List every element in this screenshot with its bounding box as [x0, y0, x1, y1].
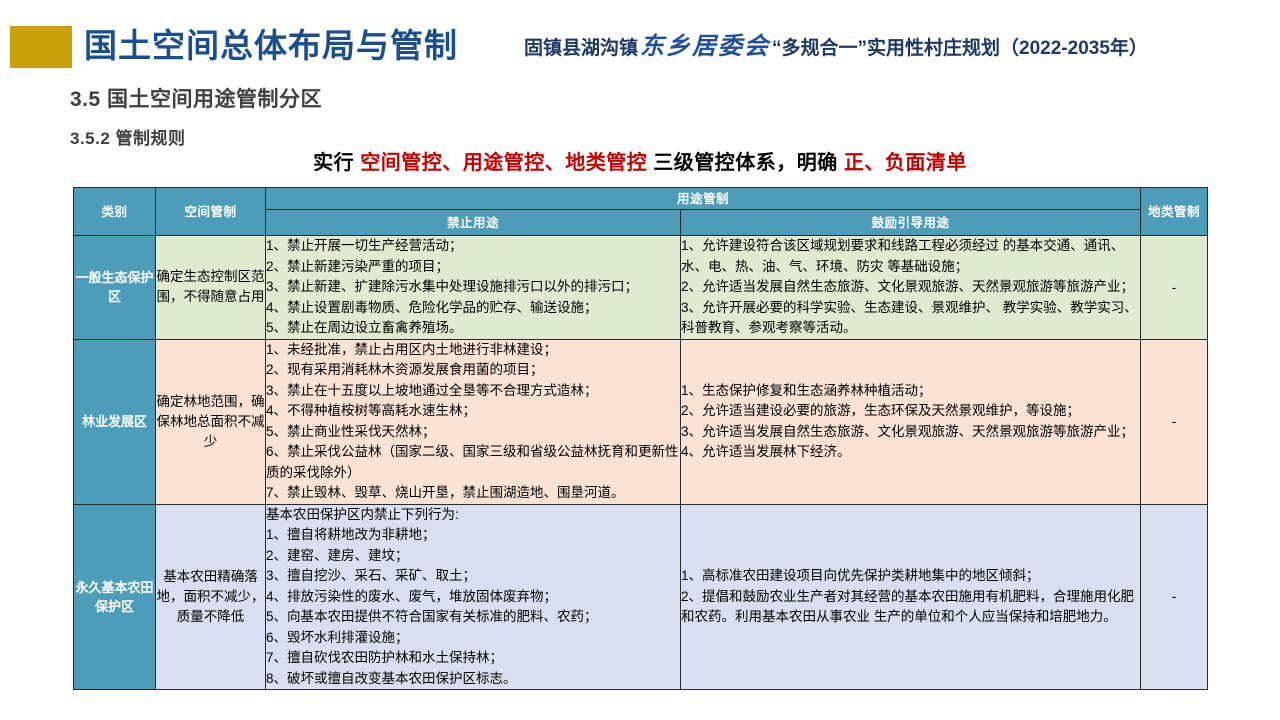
cell-encouraged-use: 1、生态保护修复和生态涵养林种植活动；2、允许适当建设必要的旅游，生态环保及天然…: [681, 339, 1141, 504]
slide-header: 国土空间总体布局与管制 固镇县湖沟镇东乡居委会“多规合一”实用性村庄规划（202…: [0, 0, 1280, 78]
section-heading-3-5: 3.5 国土空间用途管制分区: [70, 83, 322, 113]
rule-item: 6、禁止采伐公益林（国家二级、国家三级和省级公益林抚育和更新性质的采伐除外）: [266, 442, 680, 483]
cell-forbidden-use: 1、禁止开展一切生产经营活动；2、禁止新建污染严重的项目；3、禁止新建、扩建除污…: [266, 236, 681, 340]
slide: 国土空间总体布局与管制 固镇县湖沟镇东乡居委会“多规合一”实用性村庄规划（202…: [0, 0, 1280, 720]
th-space-control: 空间管制: [156, 188, 266, 236]
rule-item: 2、提倡和鼓励农业生产者对其经营的基本农田施用有机肥料，合理施用化肥和农药。利用…: [681, 587, 1140, 628]
rule-item: 8、破坏或擅自改变基本农田保护区标志。: [266, 669, 680, 690]
cell-category: 永久基本农田保护区: [74, 504, 156, 690]
table-row: 林业发展区确定林地范围，确保林地总面积不减少1、未经批准，禁止占用区内土地进行非…: [74, 339, 1208, 504]
rule-item: 4、排放污染性的废水、废气，堆放固体废弃物；: [266, 587, 680, 608]
rule-item: 5、禁止商业性采伐天然林；: [266, 422, 680, 443]
cell-space-control: 确定生态控制区范围，不得随意占用: [156, 236, 266, 340]
project-subtitle: 固镇县湖沟镇东乡居委会“多规合一”实用性村庄规划（2022-2035年）: [524, 33, 1148, 63]
rule-item: 5、向基本农田提供不符合国家有关标准的肥料、农药；: [266, 607, 680, 628]
rule-item: 4、不得种植桉树等高耗水速生林；: [266, 401, 680, 422]
banner-highlight-1: 空间管控、用途管控、地类管控: [360, 152, 647, 174]
cell-category: 一般生态保护区: [74, 236, 156, 340]
cell-land-type-control: -: [1141, 236, 1208, 340]
rule-item: 5、禁止在周边设立畜禽养殖场。: [266, 318, 680, 339]
th-land-type-control: 地类管制: [1141, 188, 1208, 236]
th-category: 类别: [74, 188, 156, 236]
page-title: 国土空间总体布局与管制: [84, 24, 458, 68]
subtitle-suffix: 实用性村庄规划（2022-2035年）: [867, 38, 1148, 59]
rule-item: 1、禁止开展一切生产经营活动；: [266, 236, 680, 257]
cell-forbidden-use: 基本农田保护区内禁止下列行为:1、擅自将耕地改为非耕地；2、建窑、建房、建坟；3…: [266, 504, 681, 690]
cell-category: 林业发展区: [74, 339, 156, 504]
rule-item: 2、现有采用消耗林木资源发展食用菌的项目；: [266, 360, 680, 381]
rule-item: 1、擅自将耕地改为非耕地；: [266, 525, 680, 546]
gold-accent-bar: [10, 26, 72, 68]
table-header-row-1: 类别 空间管制 用途管制 地类管制: [74, 188, 1208, 210]
cell-space-control: 基本农田精确落地，面积不减少，质量不降低: [156, 504, 266, 690]
subtitle-prefix: 固镇县湖沟镇: [524, 38, 638, 59]
rule-item: 1、允许建设符合该区域规划要求和线路工程必须经过 的基本交通、通讯、水、电、热、…: [681, 236, 1140, 277]
banner-highlight-2: 正、负面清单: [844, 152, 967, 174]
rule-item: 2、禁止新建污染严重的项目；: [266, 257, 680, 278]
rule-item: 3、擅自挖沙、采石、采矿、取土；: [266, 566, 680, 587]
th-use-control: 用途管制: [266, 188, 1141, 210]
cell-encouraged-use: 1、允许建设符合该区域规划要求和线路工程必须经过 的基本交通、通讯、水、电、热、…: [681, 236, 1141, 340]
rule-item: 3、允许适当发展自然生态旅游、文化景观旅游、天然景观旅游等旅游产业；: [681, 422, 1140, 443]
rule-item: 1、未经批准，禁止占用区内土地进行非林建设；: [266, 340, 680, 361]
subtitle-quoted: “多规合一”: [772, 38, 867, 59]
table-head: 类别 空间管制 用途管制 地类管制 禁止用途 鼓励引导用途: [74, 188, 1208, 236]
table-body: 一般生态保护区确定生态控制区范围，不得随意占用1、禁止开展一切生产经营活动；2、…: [74, 236, 1208, 690]
control-rules-table-wrapper: 类别 空间管制 用途管制 地类管制 禁止用途 鼓励引导用途 一般生态保护区确定生…: [73, 187, 1207, 680]
rule-item: 2、允许适当建设必要的旅游，生态环保及天然景观维护，等设施；: [681, 401, 1140, 422]
rule-item: 2、允许适当发展自然生态旅游、文化景观旅游、天然景观旅游等旅游产业；: [681, 277, 1140, 298]
rule-item: 1、高标准农田建设项目向优先保护类耕地集中的地区倾斜；: [681, 566, 1140, 587]
cell-space-control: 确定林地范围，确保林地总面积不减少: [156, 339, 266, 504]
rule-item: 3、禁止新建、扩建除污水集中处理设施排污口以外的排污口；: [266, 277, 680, 298]
rule-item: 4、禁止设置剧毒物质、危险化学品的贮存、输送设施；: [266, 298, 680, 319]
banner-part-2: 三级管控体系，明确: [647, 152, 844, 174]
rule-item: 3、禁止在十五度以上坡地通过全垦等不合理方式造林；: [266, 381, 680, 402]
th-forbidden-use: 禁止用途: [266, 210, 681, 236]
rule-item: 1、生态保护修复和生态涵养林种植活动；: [681, 381, 1140, 402]
rule-item: 7、禁止毁林、毁草、烧山开垦，禁止围湖造地、围垦河道。: [266, 483, 680, 504]
cell-land-type-control: -: [1141, 339, 1208, 504]
rule-item: 7、擅自砍伐农田防护林和水土保持林；: [266, 648, 680, 669]
control-system-banner: 实行 空间管控、用途管控、地类管控 三级管控体系，明确 正、负面清单: [0, 146, 1280, 175]
th-encouraged-use: 鼓励引导用途: [681, 210, 1141, 236]
control-rules-table: 类别 空间管制 用途管制 地类管制 禁止用途 鼓励引导用途 一般生态保护区确定生…: [73, 187, 1208, 690]
table-row: 一般生态保护区确定生态控制区范围，不得随意占用1、禁止开展一切生产经营活动；2、…: [74, 236, 1208, 340]
banner-part-1: 实行: [313, 152, 360, 174]
cell-land-type-control: -: [1141, 504, 1208, 690]
cell-encouraged-use: 1、高标准农田建设项目向优先保护类耕地集中的地区倾斜；2、提倡和鼓励农业生产者对…: [681, 504, 1141, 690]
subtitle-brush-name: 东乡居委会: [638, 34, 772, 60]
rule-item: 2、建窑、建房、建坟；: [266, 546, 680, 567]
rule-item: 基本农田保护区内禁止下列行为:: [266, 505, 680, 526]
rule-item: 3、允许开展必要的科学实验、生态建设、景观维护、 教学实验、教学实习、科普教育、…: [681, 298, 1140, 339]
table-row: 永久基本农田保护区基本农田精确落地，面积不减少，质量不降低基本农田保护区内禁止下…: [74, 504, 1208, 690]
rule-item: 4、允许适当发展林下经济。: [681, 442, 1140, 463]
rule-item: 6、毁坏水利排灌设施；: [266, 628, 680, 649]
cell-forbidden-use: 1、未经批准，禁止占用区内土地进行非林建设；2、现有采用消耗林木资源发展食用菌的…: [266, 339, 681, 504]
